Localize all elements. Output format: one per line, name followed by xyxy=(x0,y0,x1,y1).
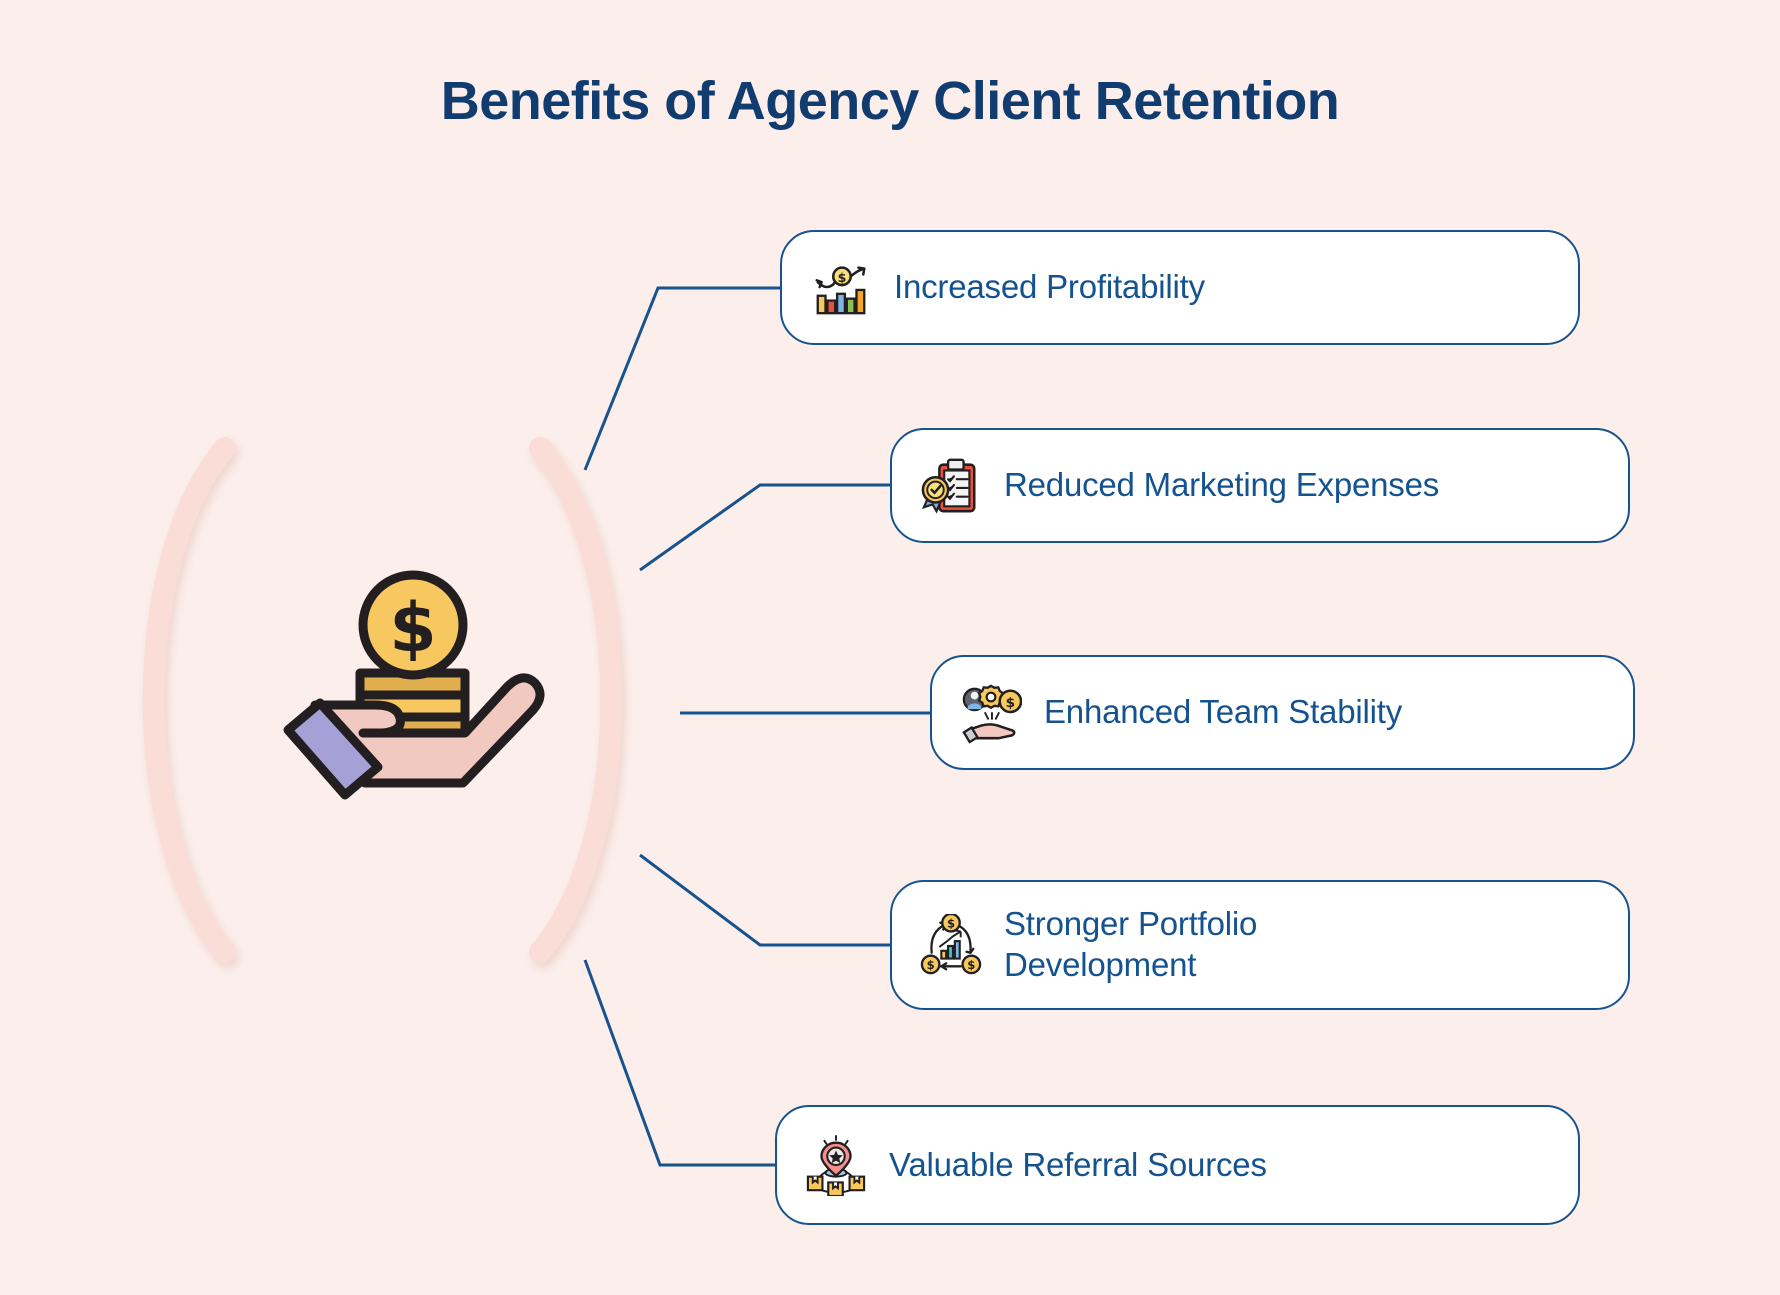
svg-text:$: $ xyxy=(927,958,935,972)
dollar-symbol: $ xyxy=(389,589,436,668)
connector-1 xyxy=(640,485,890,570)
benefit-label: Increased Profitability xyxy=(894,267,1205,308)
svg-text:$: $ xyxy=(1006,695,1015,711)
clipboard-check-badge-icon xyxy=(920,455,982,517)
benefit-card-reduced-marketing-expenses[interactable]: Reduced Marketing Expenses xyxy=(890,428,1630,543)
benefit-label: Stronger Portfolio Development xyxy=(1004,904,1257,986)
svg-text:$: $ xyxy=(967,958,975,972)
svg-text:$: $ xyxy=(947,917,955,931)
benefit-card-stronger-portfolio-development[interactable]: $ $ $ Stronger Portfolio Development xyxy=(890,880,1630,1010)
profit-bar-chart-icon: $ xyxy=(810,257,872,319)
connector-4 xyxy=(585,960,775,1165)
referral-location-pin-boxes-icon xyxy=(805,1134,867,1196)
benefit-card-valuable-referral-sources[interactable]: Valuable Referral Sources xyxy=(775,1105,1580,1225)
benefit-card-increased-profitability[interactable]: $ Increased Profitability xyxy=(780,230,1580,345)
hand-person-gear-coin-icon: $ xyxy=(960,682,1022,744)
coins-cycle-growth-icon: $ $ $ xyxy=(920,914,982,976)
benefit-label: Reduced Marketing Expenses xyxy=(1004,465,1439,506)
connector-3 xyxy=(640,855,890,945)
hand-holding-coins-illustration: $ xyxy=(245,555,545,825)
svg-text:$: $ xyxy=(838,270,847,285)
connector-0 xyxy=(585,288,780,470)
infographic-canvas: Benefits of Agency Client Retention xyxy=(0,0,1780,1295)
benefit-card-enhanced-team-stability[interactable]: $ Enhanced Team Stability xyxy=(930,655,1635,770)
benefit-label: Valuable Referral Sources xyxy=(889,1145,1267,1186)
benefit-label: Enhanced Team Stability xyxy=(1044,692,1402,733)
